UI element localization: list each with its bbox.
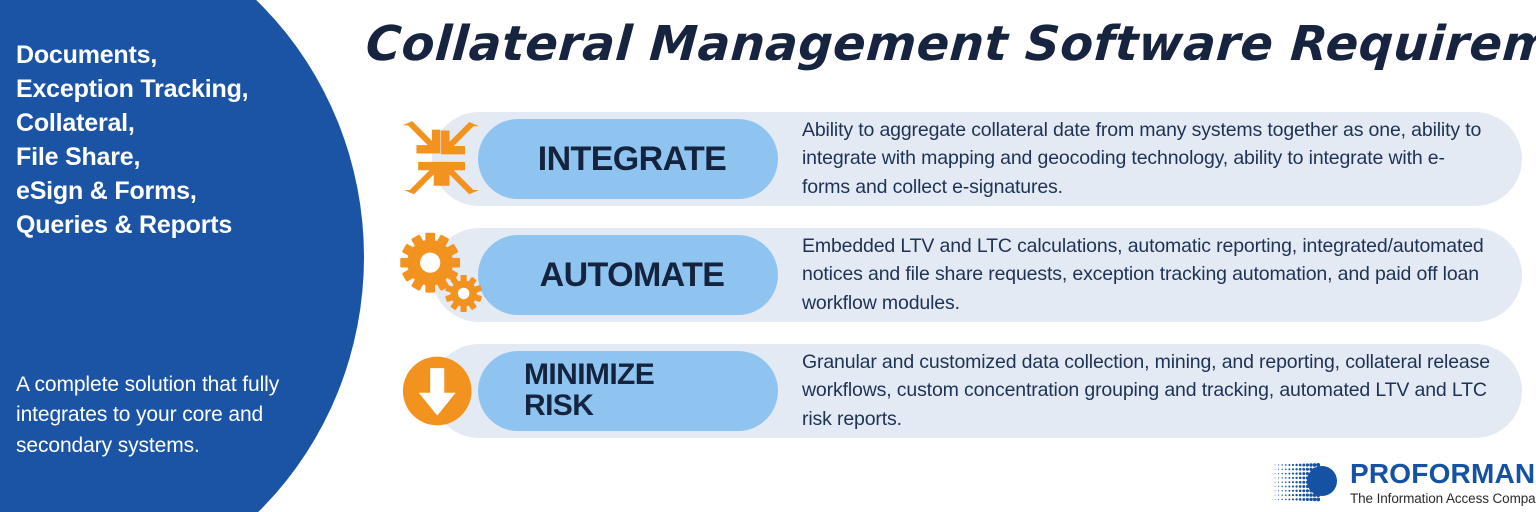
requirement-row: AUTOMATE Embedded LTV and LTC calculatio…	[390, 228, 1522, 322]
requirement-label: INTEGRATE	[478, 142, 778, 177]
down-arrow-circle-icon	[390, 347, 495, 435]
feature-list-item: Exception Tracking,	[16, 72, 316, 106]
requirement-row: MINIMIZE RISK Granular and customized da…	[390, 344, 1522, 438]
left-panel-tagline: A complete solution that fully integrate…	[16, 370, 320, 461]
page-title: Collateral Management Software Requireme…	[364, 16, 1528, 72]
requirement-row: INTEGRATE Ability to aggregate collatera…	[390, 112, 1522, 206]
proformance-logo: PROFORMANCE The Information Access Compa…	[1272, 460, 1522, 506]
halftone-circle-icon	[1272, 462, 1344, 502]
requirement-pill[interactable]: MINIMIZE RISK	[478, 351, 778, 431]
requirements-list: INTEGRATE Ability to aggregate collatera…	[390, 112, 1522, 460]
logo-tagline: The Information Access Company	[1350, 492, 1536, 506]
requirement-label-line1: MINIMIZE	[524, 358, 654, 391]
requirement-label: AUTOMATE	[478, 258, 778, 293]
requirement-label: MINIMIZE RISK	[478, 360, 778, 421]
requirement-description: Granular and customized data collection,…	[802, 348, 1492, 433]
infographic-canvas: Documents, Exception Tracking, Collatera…	[0, 0, 1536, 512]
requirement-pill[interactable]: AUTOMATE	[478, 235, 778, 315]
left-panel: Documents, Exception Tracking, Collatera…	[0, 0, 330, 512]
feature-list-item: eSign & Forms,	[16, 174, 316, 208]
gears-icon	[390, 231, 495, 319]
requirement-pill[interactable]: INTEGRATE	[478, 119, 778, 199]
feature-list-item: Queries & Reports	[16, 208, 316, 242]
feature-list-item: Collateral,	[16, 106, 316, 140]
feature-list: Documents, Exception Tracking, Collatera…	[16, 38, 316, 242]
feature-list-item: Documents,	[16, 38, 316, 72]
logo-text-block: PROFORMANCE The Information Access Compa…	[1350, 460, 1536, 506]
feature-list-item: File Share,	[16, 140, 316, 174]
logo-name: PROFORMANCE	[1350, 460, 1536, 488]
requirement-description: Ability to aggregate collateral date fro…	[802, 116, 1492, 201]
converge-arrows-icon	[390, 115, 495, 203]
requirement-label-line2: RISK	[524, 389, 593, 422]
requirement-description: Embedded LTV and LTC calculations, autom…	[802, 232, 1492, 317]
